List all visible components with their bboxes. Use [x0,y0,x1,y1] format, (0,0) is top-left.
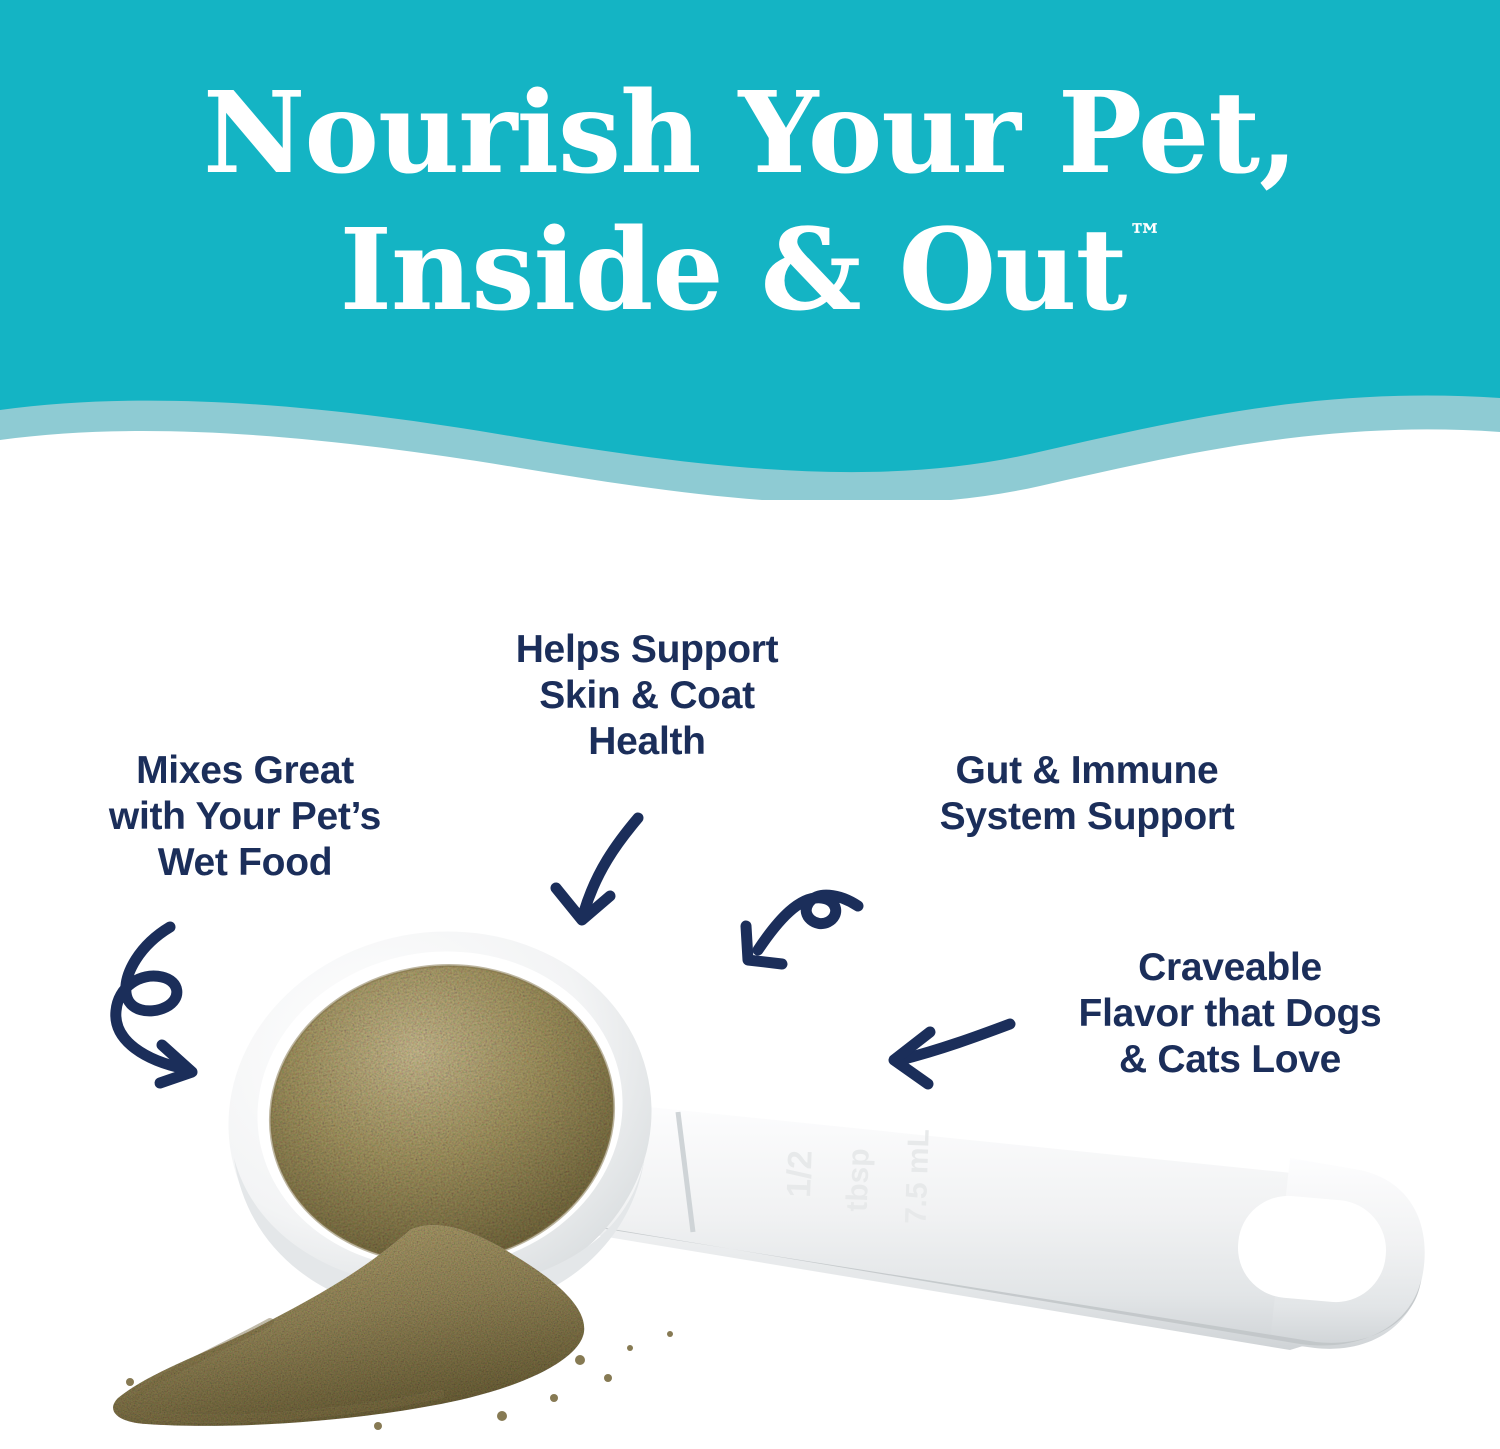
curved-down-left-arrow-icon [538,808,668,938]
header-banner: Nourish Your Pet, Inside & Out™ [0,0,1500,500]
scoop-handle: 1/2 tbsp 7.5 mL [562,1100,1425,1350]
svg-text:tbsp: tbsp [841,1148,876,1212]
svg-text:7.5 mL: 7.5 mL [899,1128,935,1224]
looped-left-arrow-icon [736,876,866,996]
product-benefits-infographic: Nourish Your Pet, Inside & Out™ [0,0,1500,1449]
callout-gut-immune-support: Gut & Immune System Support [862,748,1312,840]
page-title: Nourish Your Pet, Inside & Out™ [0,66,1500,339]
callout-flavor-line-1: Craveable [990,945,1470,991]
callout-skin-line-2: Skin & Coat [432,673,862,719]
trademark-symbol: ™ [1128,217,1162,257]
callout-gut-line-1: Gut & Immune [862,748,1312,794]
callout-mixes-line-2: with Your Pet’s [30,794,460,840]
callout-flavor-line-3: & Cats Love [990,1037,1470,1083]
callout-skin-line-3: Health [432,719,862,765]
callout-skin-line-1: Helps Support [432,627,862,673]
curly-loop-down-right-arrow-icon [88,915,258,1085]
headline-line-2-wrapper: Inside & Out™ [0,203,1500,340]
callout-flavor-line-2: Flavor that Dogs [990,991,1470,1037]
callout-gut-line-2: System Support [862,794,1312,840]
callout-mixes-line-1: Mixes Great [30,748,460,794]
callout-skin-coat-health: Helps Support Skin & Coat Health [432,627,862,765]
callout-mixes-line-3: Wet Food [30,840,460,886]
svg-text:1/2: 1/2 [780,1150,820,1199]
callout-mixes-great: Mixes Great with Your Pet’s Wet Food [30,748,460,886]
callout-craveable-flavor: Craveable Flavor that Dogs & Cats Love [990,945,1470,1083]
curved-left-arrow-icon [878,1008,1018,1098]
headline-line-2: Inside & Out [340,205,1127,336]
headline-line-1: Nourish Your Pet, [0,66,1500,203]
